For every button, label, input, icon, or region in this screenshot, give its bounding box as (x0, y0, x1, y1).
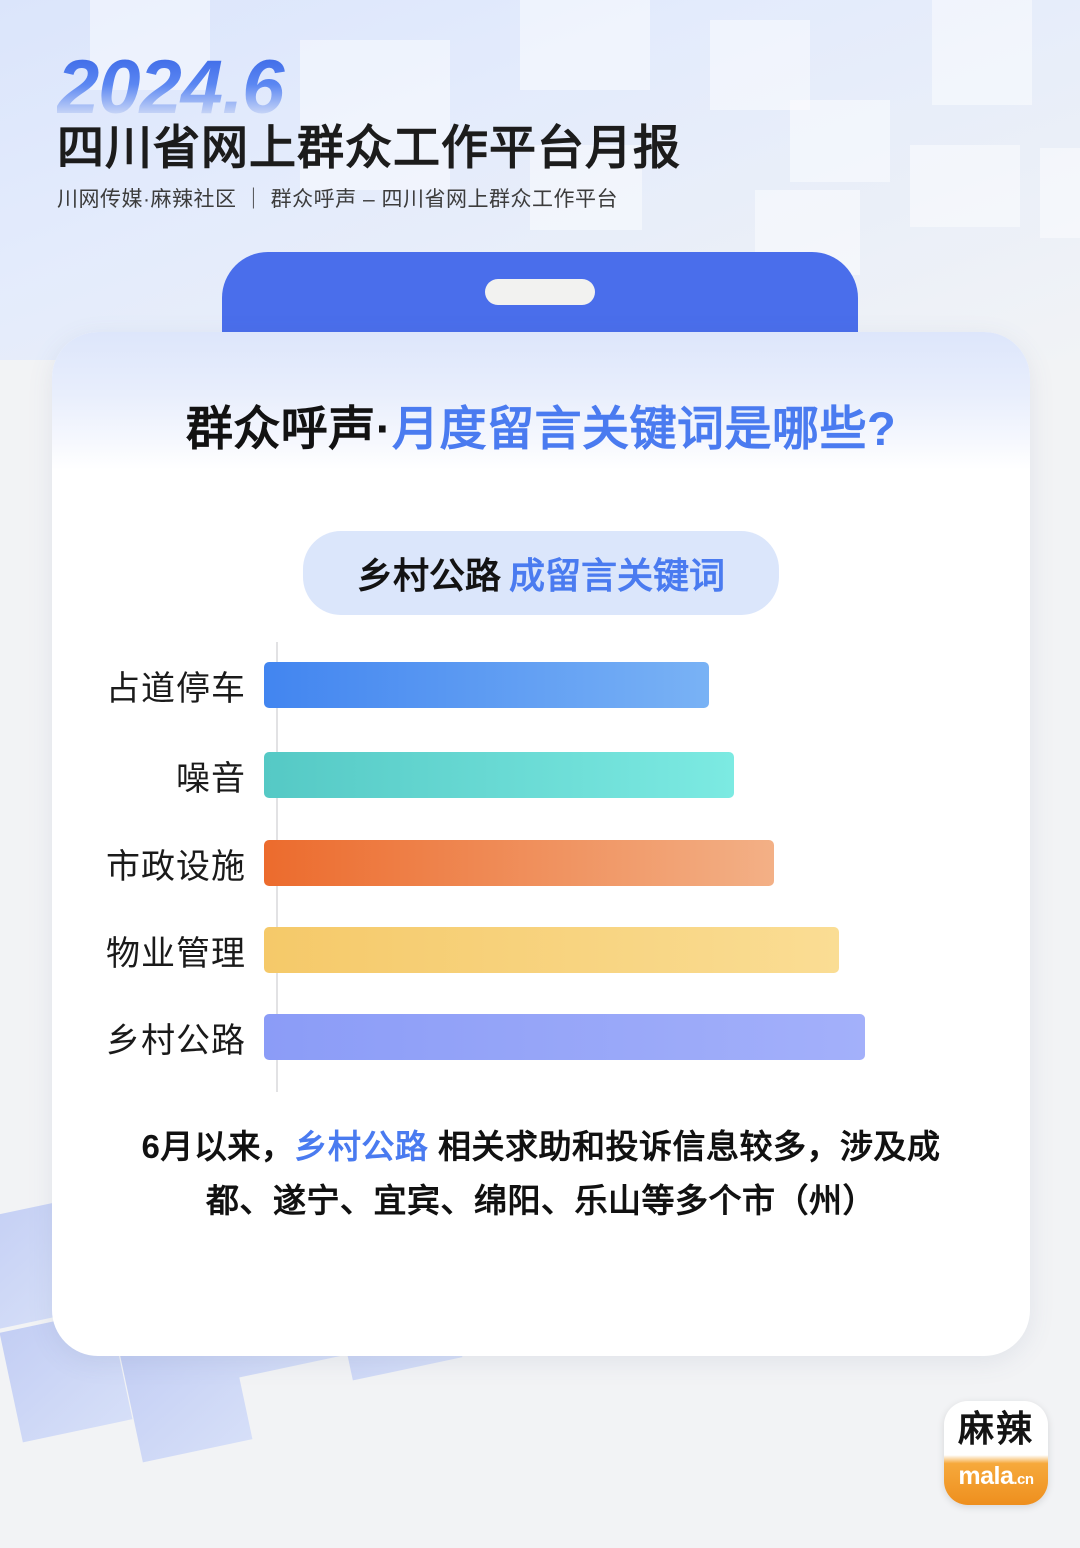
phone-speaker-icon (485, 279, 595, 305)
bar-label: 噪音 (52, 751, 262, 800)
table-row: 市政设施 (52, 840, 1030, 886)
bar-xiangcungonglu (264, 1014, 865, 1060)
bar-track (262, 1014, 1030, 1060)
logo-chinese-text: 麻辣 (944, 1407, 1048, 1450)
report-year: 2024.6 (57, 52, 681, 124)
bar-track (262, 662, 1030, 708)
logo-domain-name: mala (958, 1462, 1013, 1490)
page-header: 2024.6 四川省网上群众工作平台月报 川网传媒·麻辣社区 ｜ 群众呼声 – … (57, 52, 681, 213)
page-title: 四川省网上群众工作平台月报 (57, 122, 681, 174)
table-row: 占道停车 (52, 662, 1030, 708)
bar-shizhengsheshi (264, 840, 774, 886)
keyword-bar-chart: 占道停车 噪音 市政设施 物业管理 乡村公路 (52, 642, 1030, 1092)
bg-square (910, 145, 1020, 227)
bar-track (262, 927, 1030, 973)
pill-label-blue: 成留言关键词 (509, 555, 725, 596)
page-subtitle: 川网传媒·麻辣社区 ｜ 群众呼声 – 四川省网上群众工作平台 (57, 183, 681, 213)
bg-square (710, 20, 810, 110)
card-title-blue: 月度留言关键词是哪些? (392, 402, 896, 455)
bar-track (262, 840, 1030, 886)
bar-track (262, 752, 1030, 798)
caption-part1: 6月以来， (141, 1128, 294, 1165)
card-title-black: 群众呼声· (186, 402, 392, 455)
bar-label: 乡村公路 (52, 1013, 262, 1062)
mala-logo[interactable]: 麻辣 mala.cn (944, 1401, 1048, 1505)
caption-highlight: 乡村公路 (294, 1128, 428, 1165)
bg-square (1040, 148, 1080, 238)
table-row: 乡村公路 (52, 1014, 1030, 1060)
logo-domain-text: mala.cn (944, 1462, 1048, 1491)
pill-label-black: 乡村公路 (357, 555, 501, 596)
bg-square (790, 100, 890, 182)
bar-zhandaotingche (264, 662, 709, 708)
bar-label: 市政设施 (52, 839, 262, 888)
chart-title-pill: 乡村公路成留言关键词 (303, 531, 779, 615)
bar-wuyeguanli (264, 927, 839, 973)
card-title: 群众呼声·月度留言关键词是哪些? (52, 390, 1030, 459)
bar-label: 物业管理 (52, 926, 262, 975)
bar-label: 占道停车 (52, 661, 262, 710)
bar-zaoyin (264, 752, 734, 798)
chart-caption: 6月以来，乡村公路 相关求助和投诉信息较多，涉及成都、遂宁、宜宾、绵阳、乐山等多… (122, 1120, 960, 1229)
table-row: 噪音 (52, 752, 1030, 798)
content-card: 群众呼声·月度留言关键词是哪些? 乡村公路成留言关键词 占道停车 噪音 市政设施… (52, 332, 1030, 1356)
table-row: 物业管理 (52, 927, 1030, 973)
logo-domain-tld: .cn (1013, 1471, 1033, 1488)
bg-square (932, 0, 1032, 105)
